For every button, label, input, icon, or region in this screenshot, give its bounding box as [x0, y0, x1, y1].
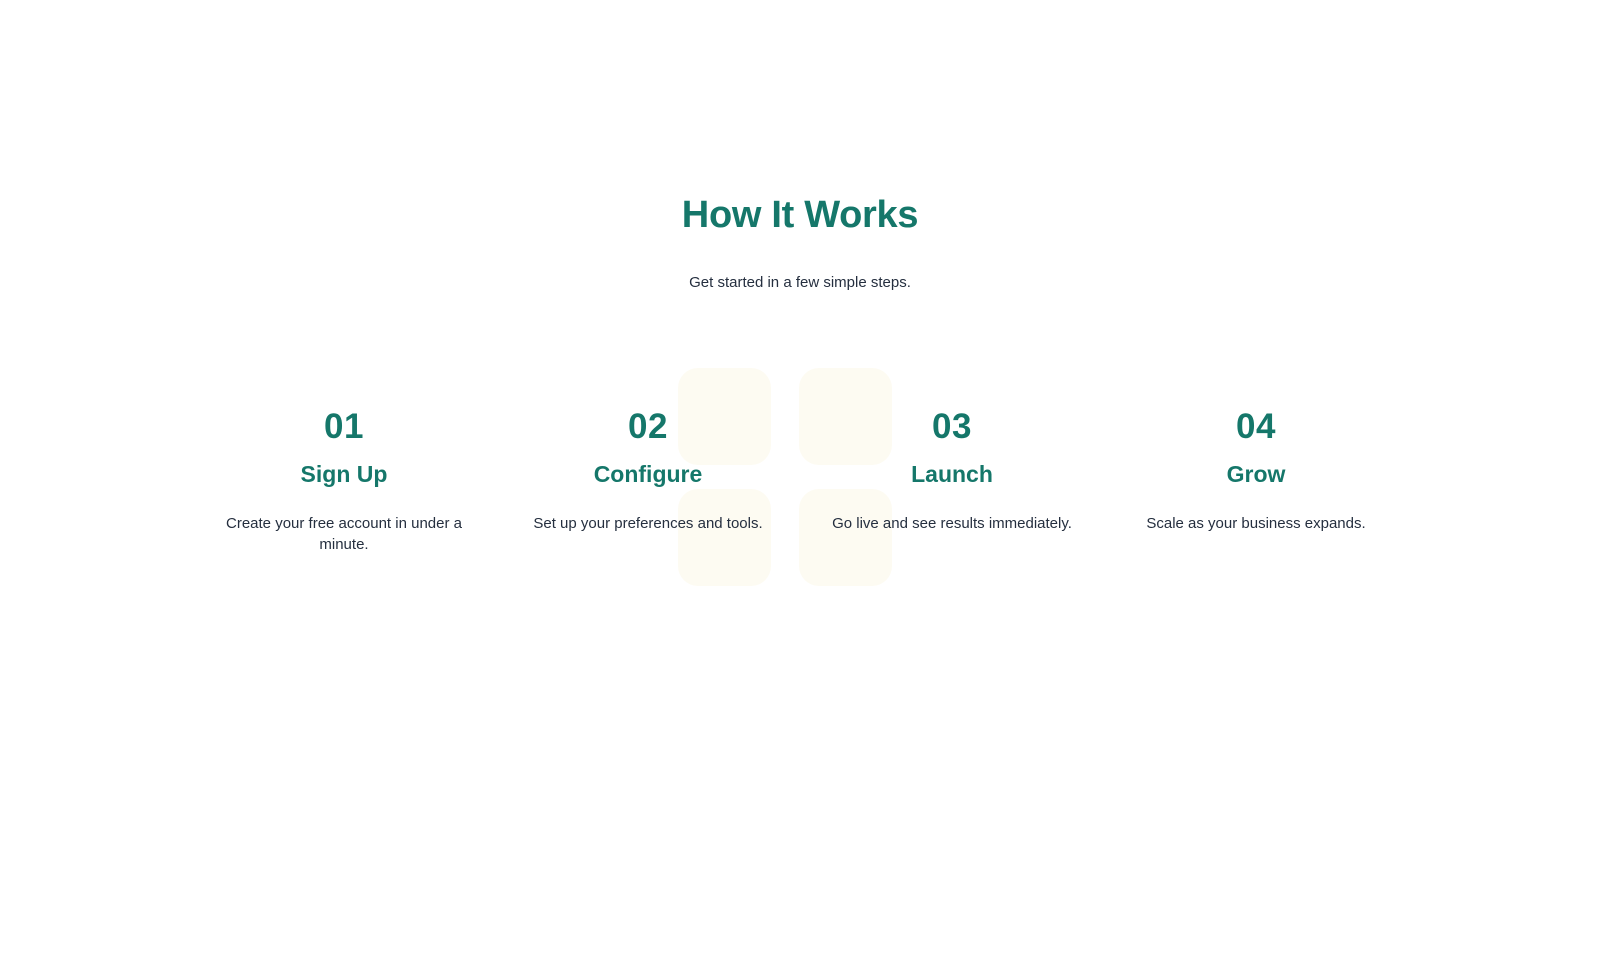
step-number-2: 02: [510, 407, 786, 447]
step-number-3: 03: [814, 407, 1090, 447]
step-card-1: 01 Sign Up Create your free account in u…: [192, 407, 496, 555]
how-it-works-section: How It Works Get started in a few simple…: [0, 0, 1600, 555]
step-card-4: 04 Grow Scale as your business expands.: [1104, 407, 1408, 555]
section-subtitle: Get started in a few simple steps.: [0, 238, 1600, 294]
step-title-1: Sign Up: [206, 447, 482, 489]
section-heading-block: How It Works Get started in a few simple…: [0, 192, 1600, 294]
step-title-4: Grow: [1118, 447, 1394, 489]
step-title-3: Launch: [814, 447, 1090, 489]
step-description-1: Create your free account in under a minu…: [224, 489, 464, 555]
step-number-4: 04: [1118, 407, 1394, 447]
step-description-2: Set up your preferences and tools.: [528, 489, 768, 534]
step-number-1: 01: [206, 407, 482, 447]
step-description-3: Go live and see results immediately.: [832, 489, 1072, 534]
step-card-3: 03 Launch Go live and see results immedi…: [800, 407, 1104, 555]
step-title-2: Configure: [510, 447, 786, 489]
step-card-2: 02 Configure Set up your preferences and…: [496, 407, 800, 555]
page-title: How It Works: [0, 192, 1600, 238]
steps-grid: 01 Sign Up Create your free account in u…: [192, 294, 1408, 555]
step-description-4: Scale as your business expands.: [1136, 489, 1376, 534]
